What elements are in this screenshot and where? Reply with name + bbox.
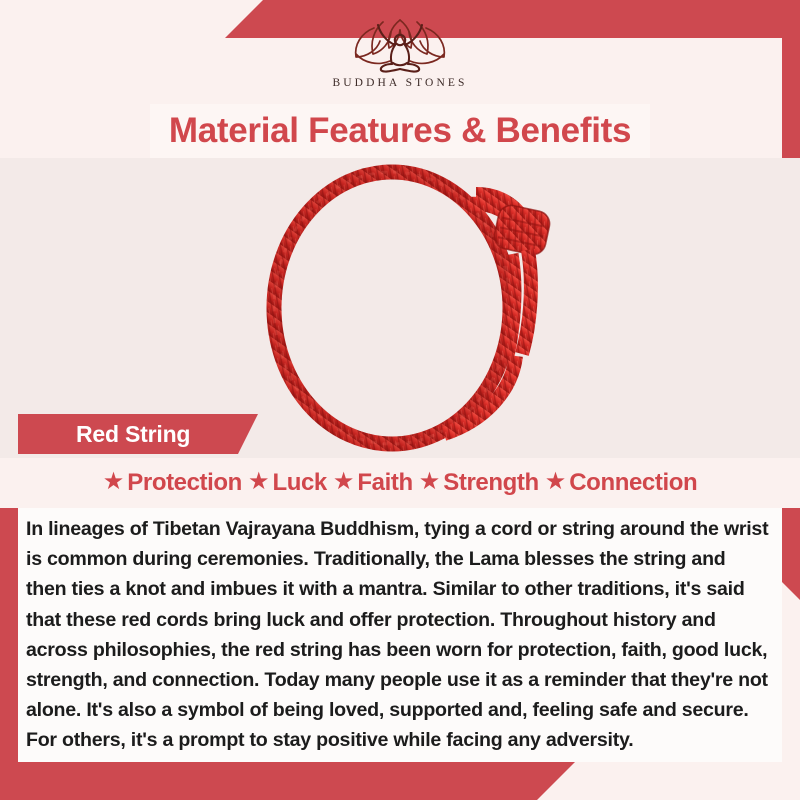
- feature-label: Luck: [272, 469, 326, 497]
- product-name-chip: Red String: [18, 414, 258, 454]
- feature-item-luck: ★ Luck: [248, 469, 327, 497]
- feature-list: ★ Protection ★ Luck ★ Faith ★ Strength ★…: [0, 458, 800, 508]
- description-text: In lineages of Tibetan Vajrayana Buddhis…: [26, 514, 770, 756]
- star-icon: ★: [248, 470, 270, 494]
- star-icon: ★: [103, 470, 125, 494]
- product-image: [0, 158, 800, 458]
- feature-label: Faith: [357, 469, 412, 497]
- product-name-label: Red String: [18, 421, 190, 448]
- page-title-text: Material Features & Benefits: [169, 111, 631, 151]
- feature-item-protection: ★ Protection: [103, 469, 242, 497]
- star-icon: ★: [545, 470, 567, 494]
- lotus-meditation-icon: [334, 14, 466, 76]
- brand-logo: BUDDHA STONES: [0, 14, 800, 100]
- feature-item-connection: ★ Connection: [545, 469, 698, 497]
- feature-item-faith: ★ Faith: [333, 469, 413, 497]
- page-title: Material Features & Benefits: [150, 104, 650, 158]
- decor-band-bottom: [0, 762, 575, 800]
- feature-label: Connection: [569, 469, 697, 497]
- red-braided-string-bracelet-illustration: [0, 158, 800, 458]
- star-icon: ★: [419, 470, 441, 494]
- feature-label: Strength: [443, 469, 538, 497]
- infographic-canvas: BUDDHA STONES Material Features & Benefi…: [0, 0, 800, 800]
- brand-wordmark: BUDDHA STONES: [333, 77, 468, 89]
- star-icon: ★: [333, 470, 355, 494]
- feature-item-strength: ★ Strength: [419, 469, 539, 497]
- feature-label: Protection: [127, 469, 242, 497]
- description-panel: In lineages of Tibetan Vajrayana Buddhis…: [18, 508, 782, 762]
